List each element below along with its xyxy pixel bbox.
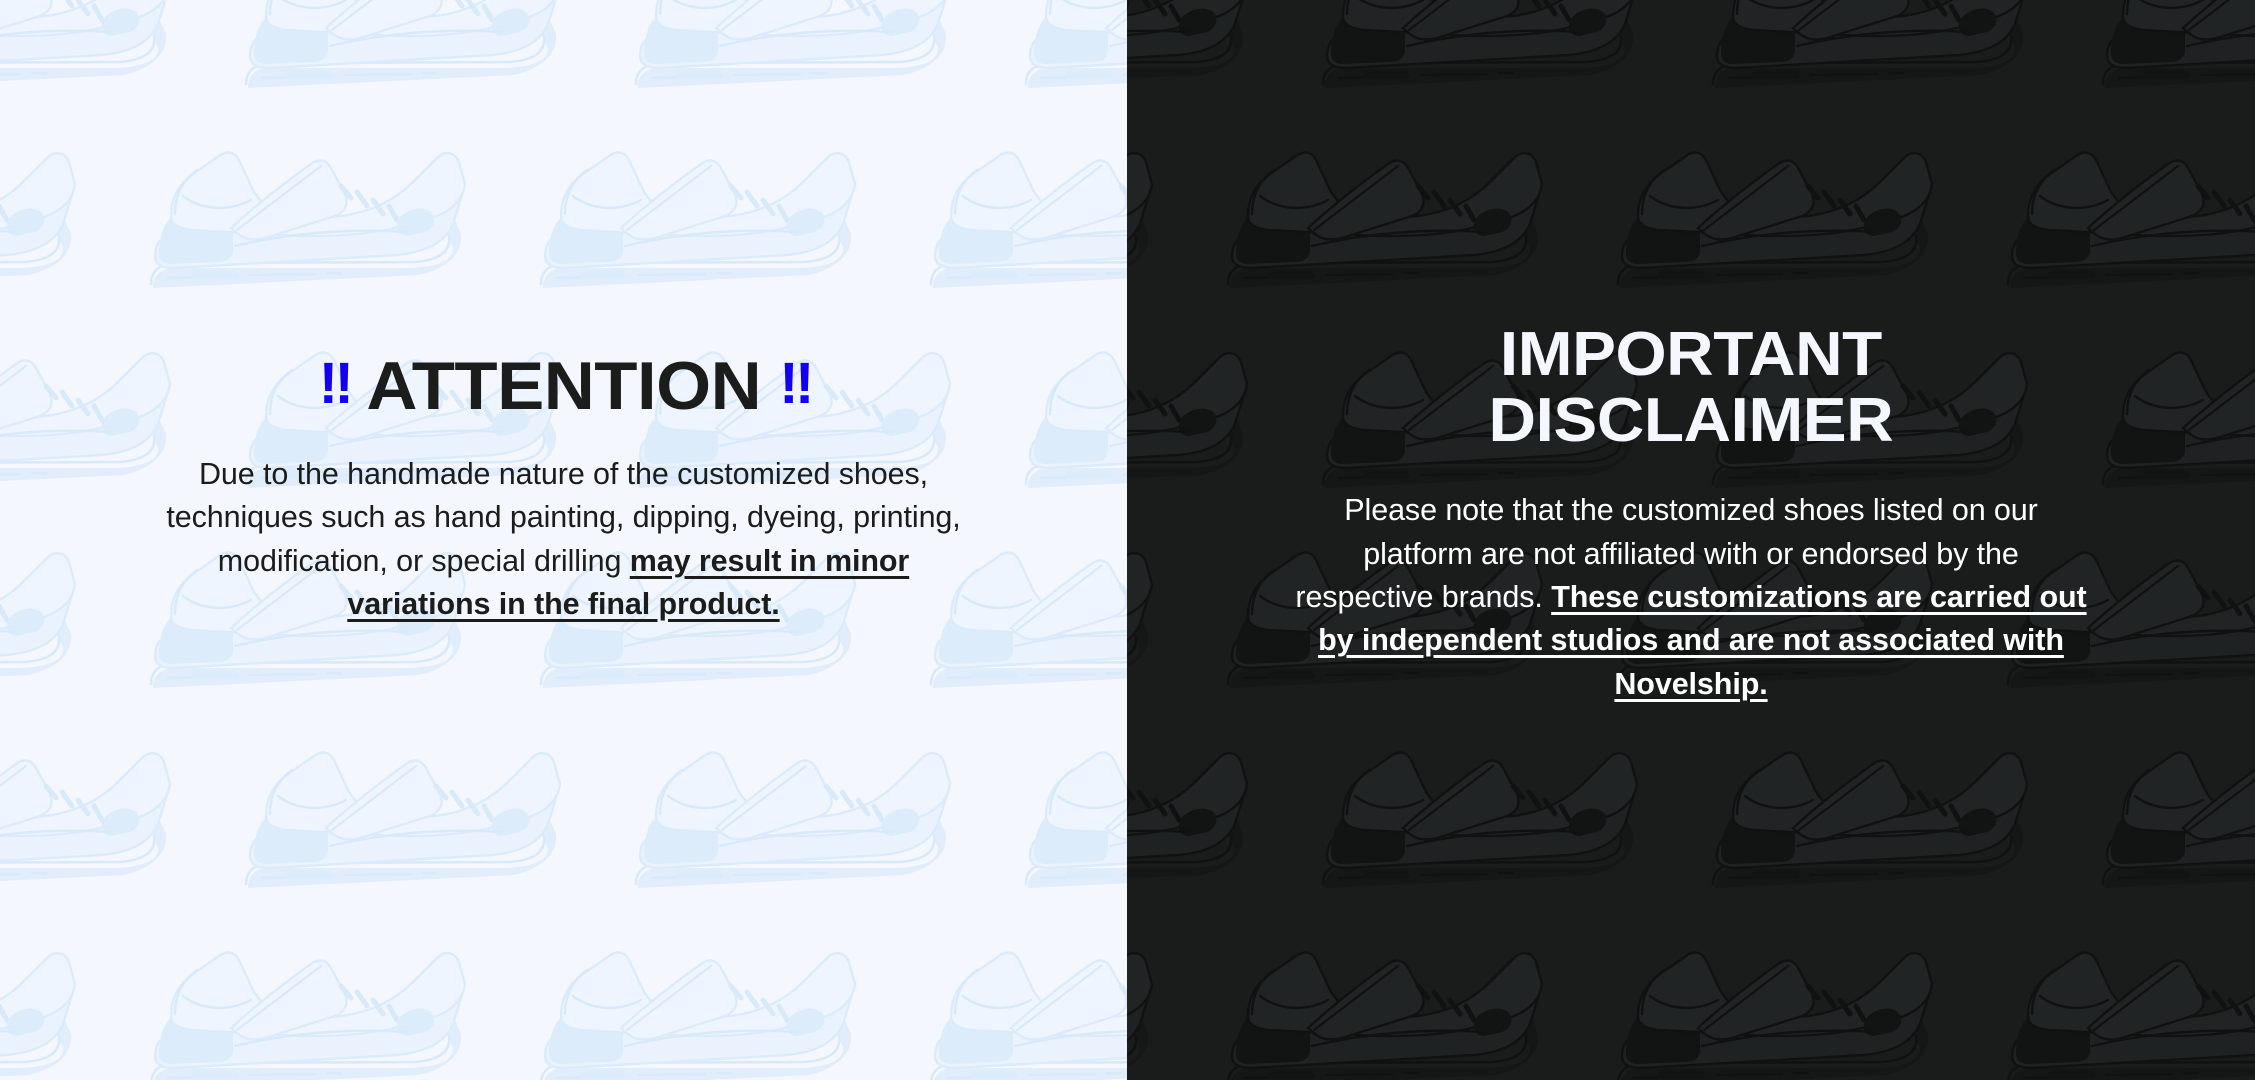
attention-body-text: Due to the handmade nature of the custom… bbox=[164, 453, 964, 626]
disclaimer-heading-line2: DISCLAIMER bbox=[1489, 388, 1894, 454]
disclaimer-heading-line1: IMPORTANT bbox=[1489, 322, 1894, 388]
disclaimer-heading: IMPORTANT DISCLAIMER bbox=[1500, 322, 1882, 453]
attention-content: ‼ ATTENTION ‼ Due to the handmade nature… bbox=[0, 0, 1127, 626]
double-exclamation-icon-left: ‼ bbox=[319, 355, 348, 413]
disclaimer-panel: IMPORTANT DISCLAIMER Please note that th… bbox=[1127, 0, 2255, 1080]
disclaimer-content: IMPORTANT DISCLAIMER Please note that th… bbox=[1127, 0, 2255, 706]
attention-heading: ‼ ATTENTION ‼ bbox=[319, 352, 809, 420]
attention-panel: ‼ ATTENTION ‼ Due to the handmade nature… bbox=[0, 0, 1127, 1080]
attention-heading-word: ATTENTION bbox=[366, 352, 761, 420]
disclaimer-body-text: Please note that the customized shoes li… bbox=[1291, 489, 2091, 705]
disclaimer-banner: ‼ ATTENTION ‼ Due to the handmade nature… bbox=[0, 0, 2255, 1080]
double-exclamation-icon-right: ‼ bbox=[779, 355, 808, 413]
